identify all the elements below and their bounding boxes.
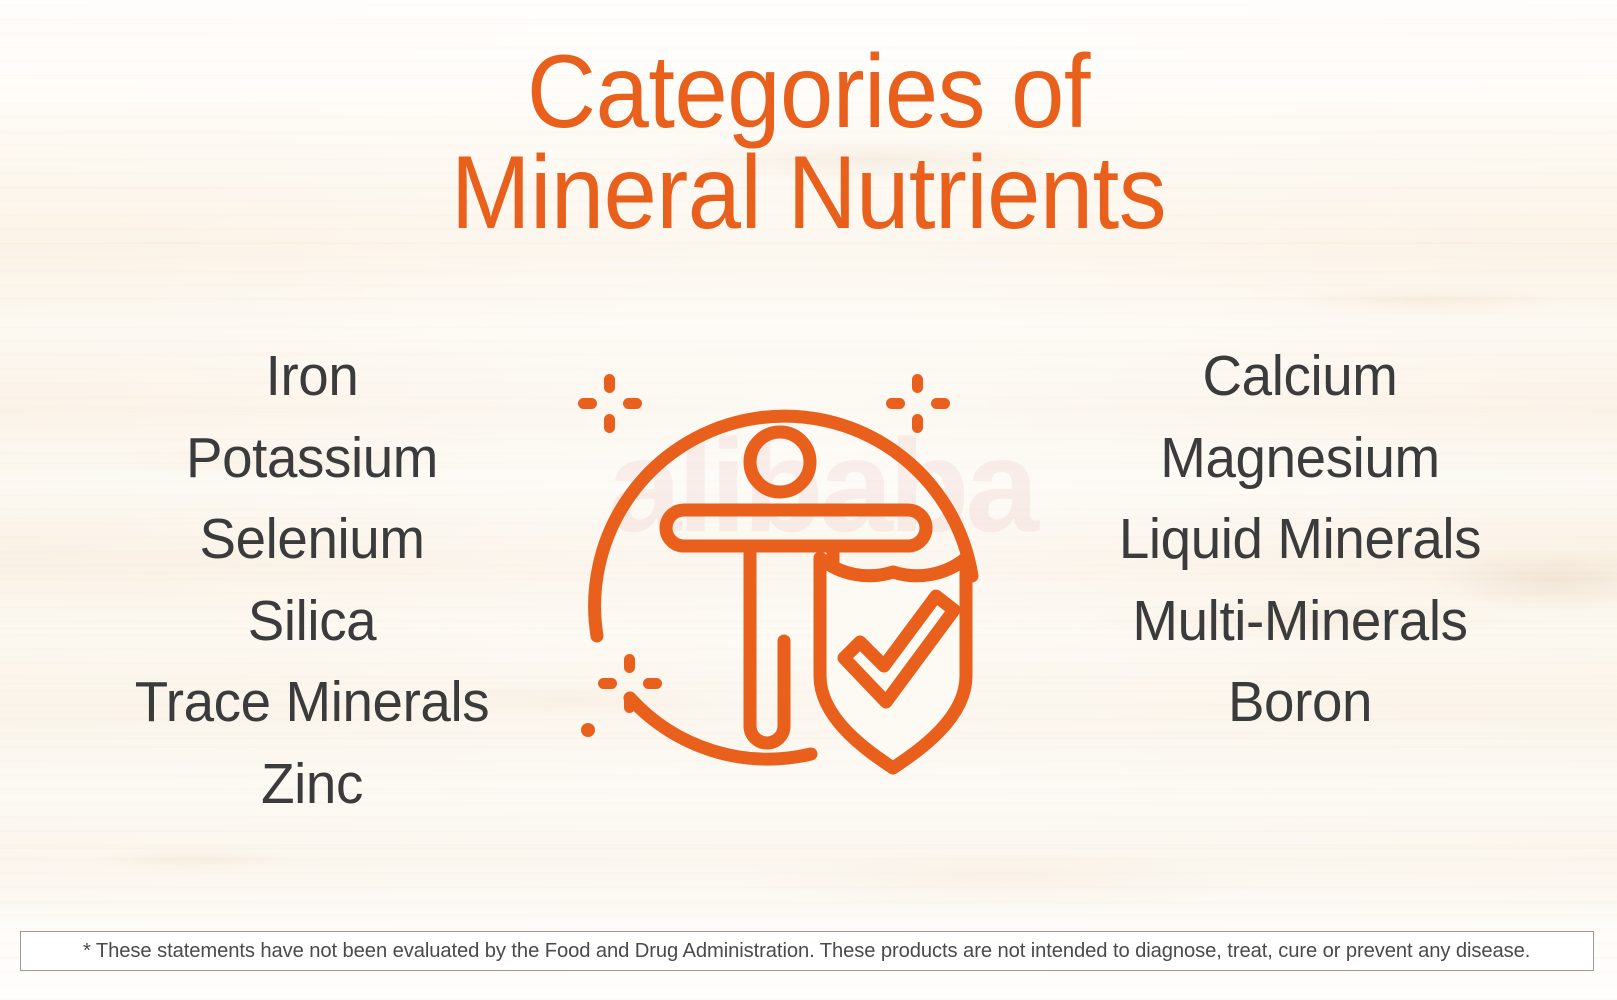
sparkle-dot — [624, 694, 635, 713]
list-item: Silica — [43, 581, 581, 663]
sparkle-dot — [623, 398, 642, 409]
sparkle-dot — [604, 414, 615, 433]
sparkle-dot-cluster-top-right — [886, 374, 950, 433]
person-head — [750, 432, 810, 492]
list-item: Potassium — [43, 418, 581, 500]
sparkle-dot — [598, 678, 617, 689]
person-left-leg — [750, 546, 784, 743]
list-item: Iron — [43, 336, 581, 418]
disclaimer-box: * These statements have not been evaluat… — [20, 931, 1594, 971]
sparkle-dot — [624, 654, 635, 673]
person-with-shield-checkmark-icon: alibaba — [568, 358, 992, 774]
list-item: Selenium — [43, 499, 581, 581]
list-item: Trace Minerals — [43, 662, 581, 744]
infographic-canvas: Categories of Mineral Nutrients Iron Pot… — [0, 0, 1617, 1000]
list-item: Multi-Minerals — [1012, 581, 1588, 663]
sparkle-dot — [581, 723, 595, 737]
sparkle-dot-cluster-top-left — [578, 374, 642, 433]
list-item: Calcium — [1012, 336, 1588, 418]
sparkle-dot — [604, 374, 615, 393]
list-item: Zinc — [43, 744, 581, 826]
list-item: Liquid Minerals — [1012, 499, 1588, 581]
sparkle-dot — [931, 398, 950, 409]
sparkle-dot — [912, 374, 923, 393]
list-item: Magnesium — [1012, 418, 1588, 500]
right-mineral-list: Calcium Magnesium Liquid Minerals Multi-… — [1012, 336, 1588, 744]
disclaimer-text: * These statements have not been evaluat… — [83, 939, 1530, 963]
person-arms — [666, 510, 926, 546]
sparkle-dot — [912, 414, 923, 433]
list-item: Boron — [1012, 662, 1588, 744]
sparkle-dot — [886, 398, 905, 409]
page-title: Categories of Mineral Nutrients — [65, 42, 1553, 244]
left-mineral-list: Iron Potassium Selenium Silica Trace Min… — [43, 336, 581, 825]
sparkle-dot — [643, 678, 662, 689]
sparkle-dot — [578, 398, 597, 409]
icon-svg — [568, 358, 992, 774]
